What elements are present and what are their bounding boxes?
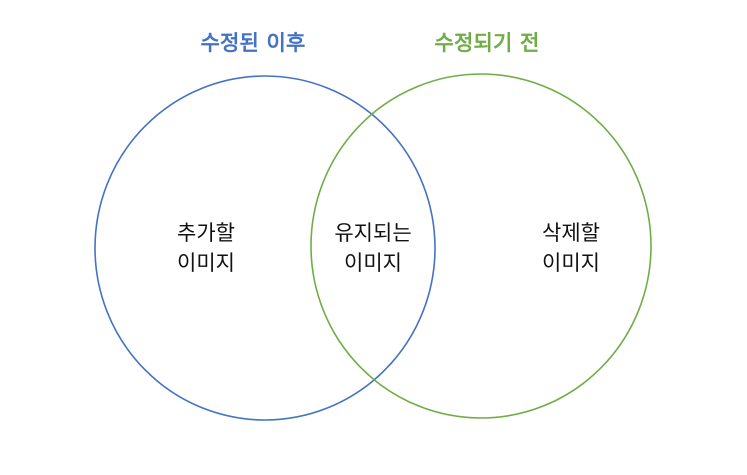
venn-region-right-only: 삭제할 이미지 bbox=[542, 219, 600, 279]
venn-region-left-only-line1: 추가할 bbox=[177, 219, 235, 249]
venn-region-right-only-line1: 삭제할 bbox=[542, 219, 600, 249]
venn-region-left-only: 추가할 이미지 bbox=[177, 219, 235, 279]
venn-title-left: 수정된 이후 bbox=[200, 31, 305, 56]
venn-region-intersection-line2: 이미지 bbox=[334, 249, 411, 279]
venn-region-intersection-line1: 유지되는 bbox=[334, 219, 411, 249]
venn-region-left-only-line2: 이미지 bbox=[177, 249, 235, 279]
venn-title-right: 수정되기 전 bbox=[434, 31, 539, 56]
venn-region-intersection: 유지되는 이미지 bbox=[334, 219, 411, 279]
venn-region-right-only-line2: 이미지 bbox=[542, 249, 600, 279]
diagram-canvas: 수정된 이후 수정되기 전 추가할 이미지 유지되는 이미지 삭제할 이미지 bbox=[0, 0, 747, 475]
